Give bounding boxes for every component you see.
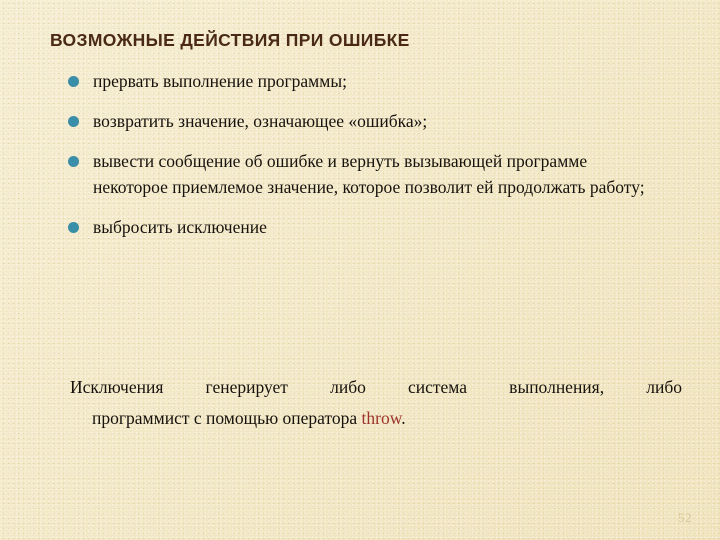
page-title: Возможные действия при ошибке — [50, 30, 690, 51]
list-item: вывести сообщение об ошибке и вернуть вы… — [62, 148, 682, 200]
bullet-dot-icon — [68, 116, 79, 127]
list-item: прервать выполнение программы; — [62, 68, 682, 94]
bullet-list: прервать выполнение программы; возвратит… — [62, 68, 682, 240]
body-paragraph: Исключения генерирует либо система выпол… — [70, 372, 682, 434]
page-number: 52 — [678, 510, 692, 526]
list-item: выбросить исключение — [62, 214, 682, 240]
paragraph-line-1: Исключения генерирует либо система выпол… — [70, 372, 682, 403]
paragraph-line-2-text: программист с помощью оператора — [92, 408, 362, 428]
slide-canvas: Возможные действия при ошибке прервать в… — [0, 0, 720, 540]
list-item-label: возвратить значение, означающее «ошибка»… — [93, 108, 682, 134]
throw-keyword: throw — [362, 408, 402, 428]
list-item-label: прервать выполнение программы; — [93, 68, 682, 94]
paragraph-line-2-end: . — [401, 408, 405, 428]
list-item-label: выбросить исключение — [93, 214, 682, 240]
bullet-dot-icon — [68, 76, 79, 87]
bullet-dot-icon — [68, 222, 79, 233]
paragraph-line-2: программист с помощью оператора throw. — [70, 403, 682, 434]
list-item-label: вывести сообщение об ошибке и вернуть вы… — [93, 148, 663, 200]
bullet-dot-icon — [68, 156, 79, 167]
list-item: возвратить значение, означающее «ошибка»… — [62, 108, 682, 134]
